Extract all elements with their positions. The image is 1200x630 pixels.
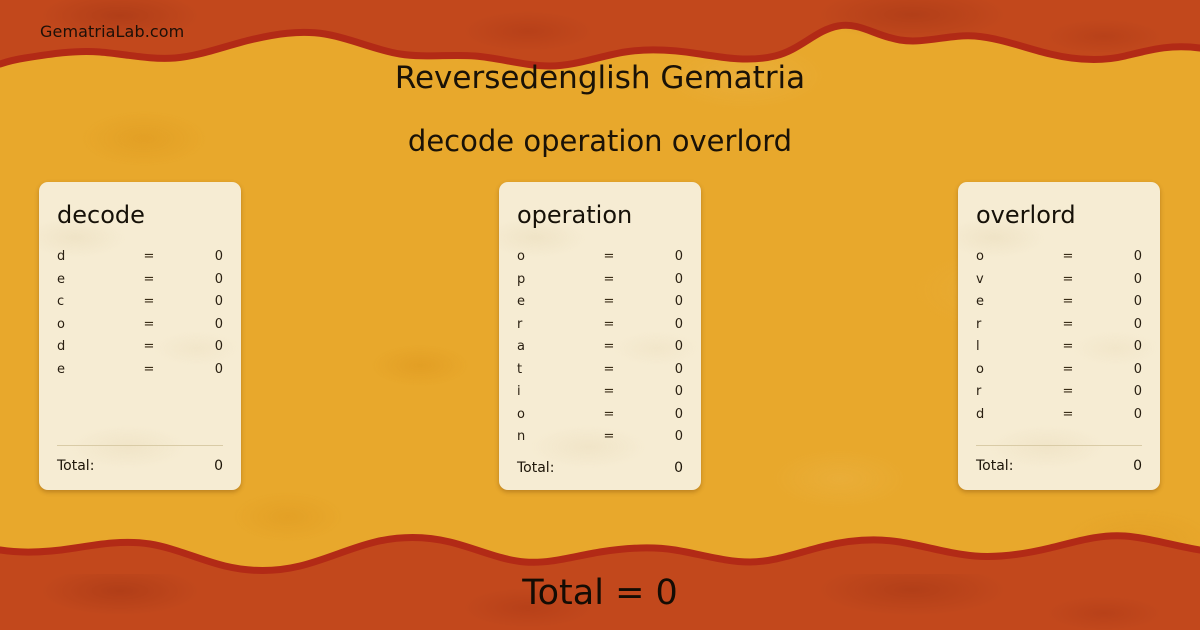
letter-char: p bbox=[517, 272, 595, 287]
letter-char: i bbox=[517, 384, 595, 399]
letter-char: e bbox=[57, 272, 135, 287]
letter-row: d = 0 bbox=[57, 245, 223, 268]
word-card: operation o = 0 p = 0 e = 0 r = 0 bbox=[499, 182, 701, 490]
equals-symbol: = bbox=[135, 362, 163, 377]
equals-symbol: = bbox=[135, 272, 163, 287]
letter-row: e = 0 bbox=[517, 290, 683, 313]
letter-char: d bbox=[57, 339, 135, 354]
letter-char: e bbox=[517, 294, 595, 309]
letter-value: 0 bbox=[1082, 272, 1142, 287]
card-total-label: Total: bbox=[976, 458, 1133, 474]
letter-value: 0 bbox=[623, 317, 683, 332]
card-total-value: 0 bbox=[674, 460, 683, 476]
page-subtitle: decode operation overlord bbox=[0, 124, 1200, 158]
letter-value: 0 bbox=[1082, 384, 1142, 399]
equals-symbol: = bbox=[135, 339, 163, 354]
letter-char: d bbox=[57, 249, 135, 264]
letter-value: 0 bbox=[623, 362, 683, 377]
equals-symbol: = bbox=[135, 317, 163, 332]
equals-symbol: = bbox=[595, 429, 623, 444]
letter-char: o bbox=[976, 249, 1054, 264]
letter-row: p = 0 bbox=[517, 268, 683, 291]
letter-row: o = 0 bbox=[517, 245, 683, 268]
gematria-image-canvas: GematriaLab.com Reversedenglish Gematria… bbox=[0, 0, 1200, 630]
letter-char: o bbox=[57, 317, 135, 332]
letter-row: e = 0 bbox=[57, 358, 223, 381]
letter-char: e bbox=[976, 294, 1054, 309]
letter-row: r = 0 bbox=[517, 313, 683, 336]
letter-char: r bbox=[517, 317, 595, 332]
equals-symbol: = bbox=[595, 294, 623, 309]
equals-symbol: = bbox=[595, 317, 623, 332]
letter-char: a bbox=[517, 339, 595, 354]
letter-char: e bbox=[57, 362, 135, 377]
letter-char: o bbox=[517, 407, 595, 422]
letter-row: a = 0 bbox=[517, 335, 683, 358]
letter-value-list: o = 0 v = 0 e = 0 r = 0 l = 0 bbox=[976, 245, 1142, 425]
equals-symbol: = bbox=[1054, 272, 1082, 287]
letter-row: o = 0 bbox=[976, 358, 1142, 381]
page-title: Reversedenglish Gematria bbox=[0, 60, 1200, 96]
letter-value: 0 bbox=[163, 294, 223, 309]
equals-symbol: = bbox=[595, 384, 623, 399]
letter-value: 0 bbox=[623, 272, 683, 287]
card-total-label: Total: bbox=[517, 460, 674, 476]
letter-value: 0 bbox=[1082, 249, 1142, 264]
letter-char: d bbox=[976, 407, 1054, 422]
letter-row: n = 0 bbox=[517, 425, 683, 448]
letter-row: d = 0 bbox=[976, 403, 1142, 426]
letter-char: r bbox=[976, 317, 1054, 332]
letter-char: o bbox=[517, 249, 595, 264]
letter-value: 0 bbox=[1082, 339, 1142, 354]
word-card: decode d = 0 e = 0 c = 0 o = 0 bbox=[39, 182, 241, 490]
card-spacer bbox=[57, 380, 223, 445]
equals-symbol: = bbox=[1054, 339, 1082, 354]
letter-row: l = 0 bbox=[976, 335, 1142, 358]
letter-char: r bbox=[976, 384, 1054, 399]
letter-value: 0 bbox=[623, 249, 683, 264]
card-total-label: Total: bbox=[57, 458, 214, 474]
letter-row: o = 0 bbox=[57, 313, 223, 336]
letter-row: c = 0 bbox=[57, 290, 223, 313]
letter-row: r = 0 bbox=[976, 313, 1142, 336]
letter-value: 0 bbox=[623, 384, 683, 399]
equals-symbol: = bbox=[1054, 249, 1082, 264]
equals-symbol: = bbox=[595, 249, 623, 264]
card-spacer bbox=[976, 425, 1142, 445]
word-card: overlord o = 0 v = 0 e = 0 r = 0 bbox=[958, 182, 1160, 490]
card-divider bbox=[57, 445, 223, 446]
letter-value: 0 bbox=[623, 339, 683, 354]
letter-char: v bbox=[976, 272, 1054, 287]
card-total-row: Total: 0 bbox=[976, 458, 1142, 474]
letter-char: l bbox=[976, 339, 1054, 354]
letter-value: 0 bbox=[623, 429, 683, 444]
equals-symbol: = bbox=[595, 272, 623, 287]
letter-row: v = 0 bbox=[976, 268, 1142, 291]
letter-row: t = 0 bbox=[517, 358, 683, 381]
letter-value: 0 bbox=[163, 317, 223, 332]
letter-value: 0 bbox=[163, 249, 223, 264]
letter-char: o bbox=[976, 362, 1054, 377]
letter-row: i = 0 bbox=[517, 380, 683, 403]
letter-row: o = 0 bbox=[517, 403, 683, 426]
equals-symbol: = bbox=[595, 407, 623, 422]
letter-char: n bbox=[517, 429, 595, 444]
equals-symbol: = bbox=[1054, 294, 1082, 309]
grand-total-text: Total = 0 bbox=[0, 573, 1200, 613]
equals-symbol: = bbox=[595, 339, 623, 354]
letter-row: e = 0 bbox=[976, 290, 1142, 313]
equals-symbol: = bbox=[1054, 407, 1082, 422]
card-divider bbox=[976, 445, 1142, 446]
letter-value: 0 bbox=[163, 272, 223, 287]
equals-symbol: = bbox=[1054, 362, 1082, 377]
card-word-title: decode bbox=[57, 202, 223, 228]
equals-symbol: = bbox=[135, 294, 163, 309]
equals-symbol: = bbox=[595, 362, 623, 377]
letter-value: 0 bbox=[623, 407, 683, 422]
site-watermark: GematriaLab.com bbox=[40, 22, 184, 41]
letter-value: 0 bbox=[1082, 407, 1142, 422]
card-total-value: 0 bbox=[214, 458, 223, 474]
equals-symbol: = bbox=[135, 249, 163, 264]
card-total-row: Total: 0 bbox=[57, 458, 223, 474]
letter-value: 0 bbox=[163, 362, 223, 377]
card-word-title: overlord bbox=[976, 202, 1142, 228]
letter-value: 0 bbox=[1082, 294, 1142, 309]
card-total-value: 0 bbox=[1133, 458, 1142, 474]
equals-symbol: = bbox=[1054, 384, 1082, 399]
card-word-title: operation bbox=[517, 202, 683, 228]
letter-value: 0 bbox=[623, 294, 683, 309]
card-total-row: Total: 0 bbox=[517, 460, 683, 476]
letter-value: 0 bbox=[1082, 317, 1142, 332]
letter-value: 0 bbox=[163, 339, 223, 354]
letter-char: t bbox=[517, 362, 595, 377]
letter-value-list: o = 0 p = 0 e = 0 r = 0 a = 0 bbox=[517, 245, 683, 448]
letter-row: d = 0 bbox=[57, 335, 223, 358]
letter-value-list: d = 0 e = 0 c = 0 o = 0 d = 0 bbox=[57, 245, 223, 380]
letter-value: 0 bbox=[1082, 362, 1142, 377]
letter-row: r = 0 bbox=[976, 380, 1142, 403]
equals-symbol: = bbox=[1054, 317, 1082, 332]
letter-row: o = 0 bbox=[976, 245, 1142, 268]
letter-row: e = 0 bbox=[57, 268, 223, 291]
letter-char: c bbox=[57, 294, 135, 309]
